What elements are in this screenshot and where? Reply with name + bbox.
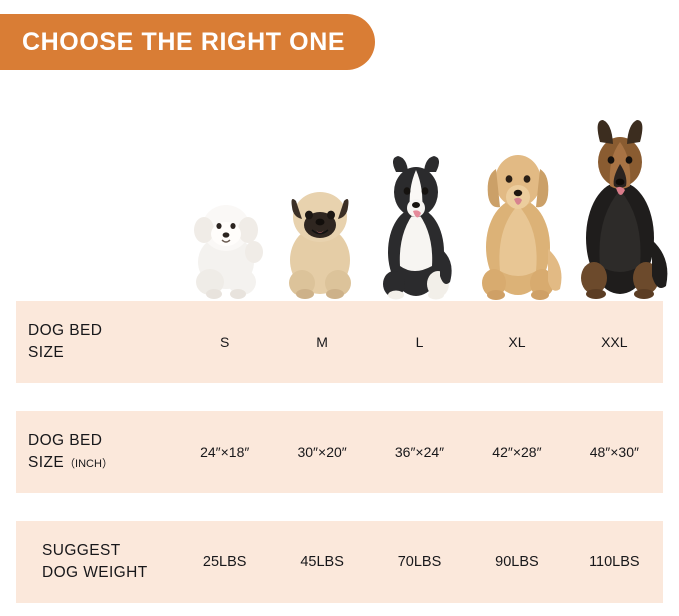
- cell-weight-m: 45LBS: [273, 554, 370, 570]
- cell-weight-xxl: 110LBS: [566, 554, 663, 570]
- cell-size-m: M: [273, 334, 370, 350]
- row-label-line-2: SIZE: [28, 342, 188, 364]
- header-banner: CHOOSE THE RIGHT ONE: [0, 14, 375, 70]
- golden-retriever-illustration: [468, 135, 568, 300]
- bichon-frise-illustration: [180, 190, 272, 300]
- row-values: 25LBS 45LBS 70LBS 90LBS 110LBS: [176, 521, 663, 603]
- cell-weight-s: 25LBS: [176, 554, 273, 570]
- row-label-line-2: SIZE（INCH）: [28, 452, 188, 475]
- row-label-unit: （INCH）: [64, 458, 113, 470]
- cell-size-s: S: [176, 334, 273, 350]
- table-row: SUGGEST DOG WEIGHT 25LBS 45LBS 70LBS 90L…: [16, 521, 663, 603]
- cell-dim-l: 36″×24″: [371, 444, 468, 460]
- page-title: CHOOSE THE RIGHT ONE: [0, 28, 345, 57]
- cell-size-l: L: [371, 334, 468, 350]
- cell-dim-s: 24″×18″: [176, 444, 273, 460]
- cell-weight-xl: 90LBS: [468, 554, 565, 570]
- row-values: S M L XL XXL: [176, 301, 663, 383]
- row-label-bed-size: DOG BED SIZE: [28, 301, 188, 383]
- row-values: 24″×18″ 30″×20″ 36″×24″ 42″×28″ 48″×30″: [176, 411, 663, 493]
- row-label-line-2-text: SIZE: [28, 454, 64, 471]
- row-label-bed-size-inch: DOG BED SIZE（INCH）: [28, 411, 188, 493]
- cell-dim-m: 30″×20″: [273, 444, 370, 460]
- product-size-chart: CHOOSE THE RIGHT ONE: [0, 0, 679, 616]
- border-collie-illustration: [368, 148, 464, 300]
- german-shepherd-illustration: [568, 118, 672, 300]
- cell-weight-l: 70LBS: [371, 554, 468, 570]
- cell-dim-xl: 42″×28″: [468, 444, 565, 460]
- row-label-line-1: DOG BED: [28, 430, 188, 452]
- cell-size-xl: XL: [468, 334, 565, 350]
- cell-size-xxl: XXL: [566, 334, 663, 350]
- table-row: DOG BED SIZE（INCH） 24″×18″ 30″×20″ 36″×2…: [16, 411, 663, 493]
- table-row: DOG BED SIZE S M L XL XXL: [16, 301, 663, 383]
- pug-illustration: [272, 175, 368, 300]
- cell-dim-xxl: 48″×30″: [566, 444, 663, 460]
- dog-illustration-row: [160, 110, 670, 300]
- row-label-line-1: DOG BED: [28, 320, 188, 342]
